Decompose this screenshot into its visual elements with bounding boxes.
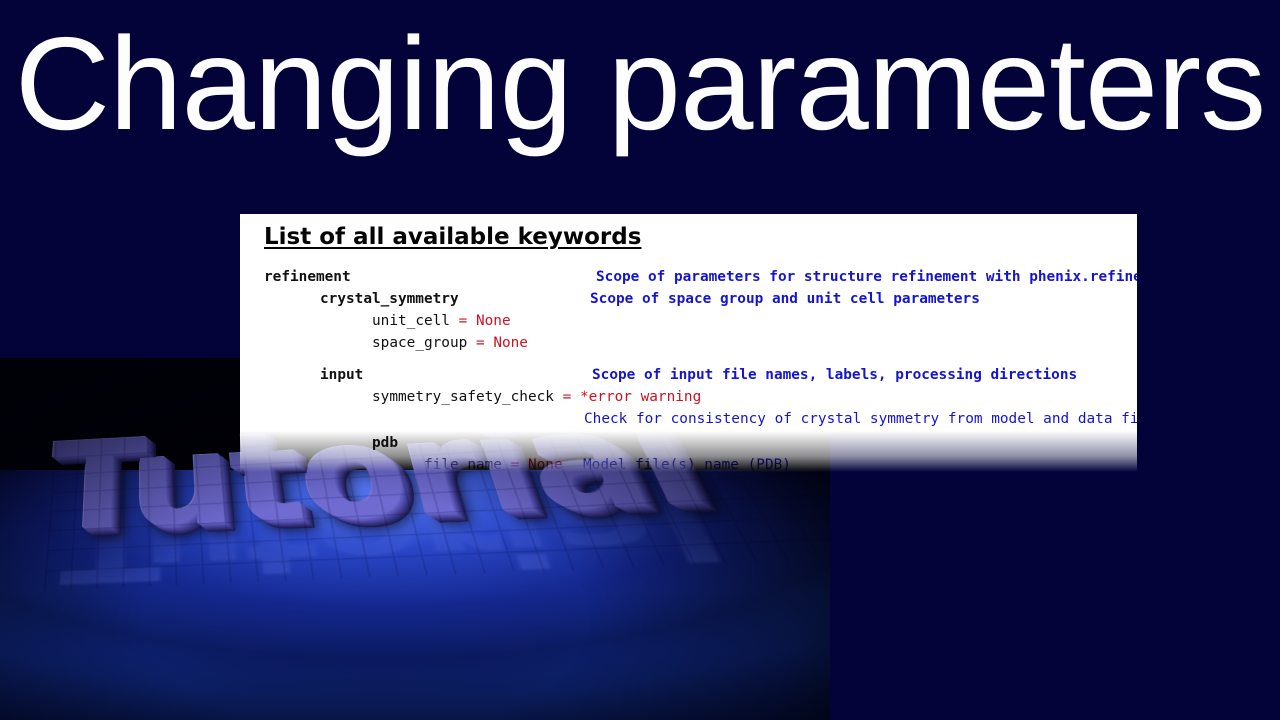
keyword-equals: = [467,335,493,351]
keyword-row: crystal_symmetryScope of space group and… [240,288,1137,310]
keyword-entry: unit_cell = None [372,310,511,332]
keyword-entry: space_group = None [372,332,528,354]
keyword-equals: = [554,389,580,405]
keyword-row: symmetry_safety_check = *error warning [240,386,1137,408]
slide-root: Changing parameters Tutorial Tutorial Li… [0,0,1280,720]
keyword-description: Scope of parameters for structure refine… [596,266,1137,288]
keyword-description: Model file(s) name (PDB) [583,454,791,472]
keyword-name: input [320,367,363,383]
keyword-value: None [493,335,528,351]
keyword-name: pdb [372,435,398,451]
keyword-row-list: refinementScope of parameters for struct… [240,266,1137,472]
keyword-equals: = [502,457,528,472]
keyword-panel-heading: List of all available keywords [264,224,641,250]
keyword-panel: List of all available keywords refinemen… [240,214,1137,472]
keyword-row: file_name = NoneModel file(s) name (PDB) [240,454,1137,472]
keyword-description: Check for consistency of crystal symmetr… [584,408,1137,430]
keyword-row: refinementScope of parameters for struct… [240,266,1137,288]
keyword-equals: = [450,313,476,329]
keyword-row: unit_cell = None [240,310,1137,332]
keyword-name: unit_cell [372,313,450,329]
keyword-entry: pdb [372,432,398,454]
keyword-row: space_group = None [240,332,1137,354]
keyword-row: pdb [240,432,1137,454]
keyword-value: None [476,313,511,329]
keyword-entry: refinement [264,266,351,288]
keyword-value: *error warning [580,389,701,405]
keyword-row: inputScope of input file names, labels, … [240,364,1137,386]
keyword-description: Scope of input file names, labels, proce… [592,364,1077,386]
keyword-entry: crystal_symmetry [320,288,459,310]
page-title: Changing parameters [0,18,1280,150]
keyword-name: symmetry_safety_check [372,389,554,405]
keyword-name: refinement [264,269,351,285]
keyword-name: crystal_symmetry [320,291,459,307]
keyword-row: Check for consistency of crystal symmetr… [240,408,1137,430]
keyword-entry: file_name = None [424,454,563,472]
keyword-name: space_group [372,335,467,351]
keyword-description: Scope of space group and unit cell param… [590,288,980,310]
keyword-value: None [528,457,563,472]
keyword-name: file_name [424,457,502,472]
keyword-entry: symmetry_safety_check = *error warning [372,386,701,408]
keyword-entry: input [320,364,363,386]
row-spacer [240,354,1137,364]
